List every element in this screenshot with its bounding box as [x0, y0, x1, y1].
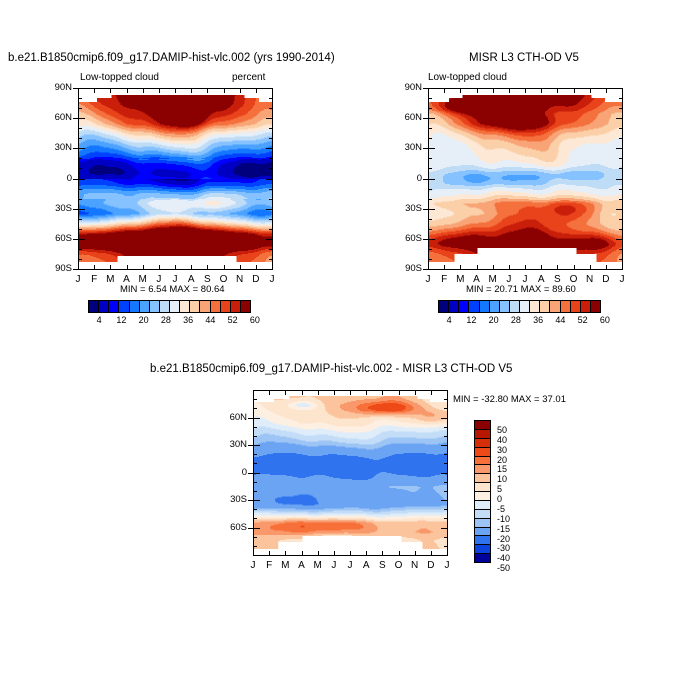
panel-model-ytick-major: [73, 239, 78, 240]
panel-diff-xtick: [431, 551, 432, 556]
panel-model-ytick-major: [73, 269, 78, 270]
panel-obs-xtick: [557, 88, 558, 93]
panel-obs-ytick: [428, 108, 432, 109]
colorbar-tick-label: 36: [533, 315, 543, 325]
panel-model-ytick: [78, 148, 85, 149]
panel-model-xtick: [224, 88, 225, 93]
colorbar-tick-label: -50: [497, 563, 510, 573]
panel-model-ylabel: 90S: [44, 263, 72, 274]
colorbar-tick-label: 60: [250, 315, 260, 325]
panel-model-ytick: [78, 118, 85, 119]
panel-model-ytick: [78, 249, 82, 250]
panel-obs-ytick: [619, 189, 623, 190]
panel-obs-ytick-major: [423, 179, 428, 180]
panel-obs-ytick: [619, 168, 623, 169]
panel-obs-xtick: [493, 88, 494, 93]
panel-obs-xtick: [541, 265, 542, 270]
panel-obs-xtick: [574, 88, 575, 93]
panel-model-right-label: percent: [232, 72, 265, 83]
panel-diff-ytick-major: [248, 418, 253, 419]
panel-model-xtick: [256, 88, 257, 93]
panel-model-colorbar-labels: 412202836445260: [88, 315, 266, 327]
panel-obs-title: MISR L3 CTH-OD V5: [404, 52, 644, 64]
panel-obs-ytick: [428, 168, 432, 169]
panel-model-ytick: [269, 108, 273, 109]
panel-model-ytick: [269, 199, 273, 200]
panel-obs-xtick: [477, 88, 478, 93]
panel-model-ytick: [78, 199, 82, 200]
panel-model-ytick-major: [73, 179, 78, 180]
panel-obs-ytick: [616, 118, 623, 119]
panel-diff-ytick: [253, 399, 257, 400]
panel-obs-xtick: [493, 265, 494, 270]
panel-diff-ytick-major: [248, 528, 253, 529]
colorbar-tick-label: 4: [97, 315, 102, 325]
panel-model-ylabel: 60S: [44, 233, 72, 244]
panel-model-ytick: [78, 209, 85, 210]
panel-obs-ytick: [619, 158, 623, 159]
colorbar-tick-label: 10: [497, 474, 507, 484]
panel-diff-ylabel: 30S: [219, 494, 247, 505]
colorbar-tick-label: 44: [555, 315, 565, 325]
colorbar-tick-label: 40: [497, 435, 507, 445]
colorbar-tick-label: 12: [116, 315, 126, 325]
panel-diff-ylabel: 60S: [219, 522, 247, 533]
colorbar-tick-label: -20: [497, 534, 510, 544]
colorbar-tick-label: 20: [497, 455, 507, 465]
panel-model-ylabel: 30S: [44, 203, 72, 214]
panel-diff-ytick: [253, 418, 260, 419]
panel-diff-xtick: [302, 551, 303, 556]
panel-obs-ylabel: 0: [394, 173, 422, 184]
panel-obs-ytick: [616, 148, 623, 149]
panel-obs-ytick: [428, 189, 432, 190]
panel-obs-ytick: [619, 229, 623, 230]
panel-obs-ylabel: 30N: [394, 142, 422, 153]
panel-obs-xtick: [477, 265, 478, 270]
colorbar-swatch: [590, 300, 601, 313]
panel-model-xtick: [110, 265, 111, 270]
panel-model-ytick-major: [73, 88, 78, 89]
colorbar-tick-label: -10: [497, 514, 510, 524]
panel-diff-ytick: [253, 408, 257, 409]
panel-diff-ytick: [253, 454, 257, 455]
colorbar-tick-label: 12: [466, 315, 476, 325]
panel-obs-ylabel: 60S: [394, 233, 422, 244]
panel-model-xtick: [94, 265, 95, 270]
panel-diff-xtick: [318, 390, 319, 395]
colorbar-tick-label: -30: [497, 543, 510, 553]
panel-obs-ytick: [428, 88, 435, 89]
panel-obs-ytick-major: [423, 269, 428, 270]
panel-obs-xtick: [444, 88, 445, 93]
panel-diff-ytick: [253, 482, 257, 483]
panel-diff-ytick-major: [248, 500, 253, 501]
panel-model-ytick: [78, 98, 82, 99]
colorbar-tick-label: 36: [183, 315, 193, 325]
panel-model-ytick: [78, 229, 82, 230]
panel-obs-ytick: [428, 179, 435, 180]
panel-diff-ytick: [441, 418, 448, 419]
panel-diff-ytick: [441, 445, 448, 446]
panel-diff-ytick: [444, 408, 448, 409]
panel-model-ytick: [269, 138, 273, 139]
panel-diff-xtick: [334, 551, 335, 556]
panel-model-xtick: [94, 88, 95, 93]
colorbar-tick-label: -15: [497, 524, 510, 534]
panel-obs-colorbar-labels: 412202836445260: [438, 315, 616, 327]
panel-diff-ytick: [444, 436, 448, 437]
panel-model-ytick: [78, 189, 82, 190]
panel-diff-ytick: [253, 555, 257, 556]
panel-diff-heatmap: [254, 391, 447, 555]
panel-obs-ytick: [428, 239, 435, 240]
colorbar-swatch: [474, 553, 491, 563]
panel-model-ytick: [269, 128, 273, 129]
panel-model-ytick-major: [73, 118, 78, 119]
colorbar-tick-label: -5: [497, 504, 505, 514]
panel-diff-xtick: [318, 551, 319, 556]
panel-obs-ytick: [616, 239, 623, 240]
panel-model-ytick: [266, 88, 273, 89]
panel-diff-ytick: [253, 473, 260, 474]
panel-diff-xtick: [366, 551, 367, 556]
colorbar-tick-label: 52: [228, 315, 238, 325]
panel-model-ytick: [78, 138, 82, 139]
panel-diff-title: b.e21.B1850cmip6.f09_g17.DAMIP-hist-vlc.…: [150, 363, 512, 375]
panel-model-xlabel: J: [262, 274, 282, 285]
panel-model-xtick: [191, 88, 192, 93]
panel-model-colorbar[interactable]: [88, 300, 266, 313]
panel-diff-colorbar[interactable]: [474, 420, 491, 578]
panel-diff-ytick: [444, 390, 448, 391]
panel-model-ytick: [269, 229, 273, 230]
panel-obs-ytick: [428, 229, 432, 230]
panel-diff-xtick: [415, 551, 416, 556]
colorbar-tick-label: 5: [497, 484, 502, 494]
panel-model-xtick: [207, 265, 208, 270]
panel-diff-xtick: [382, 551, 383, 556]
panel-diff-ytick: [253, 528, 260, 529]
panel-obs-xtick: [460, 265, 461, 270]
panel-diff-ytick: [253, 427, 257, 428]
panel-obs-ytick: [616, 269, 623, 270]
panel-model-ytick: [266, 179, 273, 180]
panel-diff-ytick-major: [248, 445, 253, 446]
panel-model-xtick: [127, 265, 128, 270]
panel-model-ytick: [78, 239, 85, 240]
panel-obs-xlabel: J: [612, 274, 632, 285]
panel-obs-ytick: [616, 209, 623, 210]
colorbar-tick-label: 20: [489, 315, 499, 325]
colorbar-tick-label: 30: [497, 445, 507, 455]
panel-obs-ytick: [428, 219, 432, 220]
panel-diff-ytick: [444, 537, 448, 538]
panel-model-ytick: [269, 249, 273, 250]
panel-model-ytick: [266, 269, 273, 270]
panel-obs-ytick: [619, 199, 623, 200]
panel-model-xtick: [159, 265, 160, 270]
panel-model-ylabel: 60N: [44, 112, 72, 123]
panel-diff-ytick: [253, 500, 260, 501]
panel-model-xtick: [240, 265, 241, 270]
panel-model-ytick: [78, 158, 82, 159]
panel-diff-xtick: [285, 390, 286, 395]
colorbar-tick-label: 15: [497, 464, 507, 474]
panel-obs-ytick: [616, 88, 623, 89]
panel-obs-ytick: [428, 259, 432, 260]
panel-obs-ylabel: 30S: [394, 203, 422, 214]
panel-obs-ytick: [428, 98, 432, 99]
panel-model-xtick: [224, 265, 225, 270]
panel-obs-ytick: [428, 199, 432, 200]
panel-obs-ytick: [428, 148, 435, 149]
panel-model-ytick: [269, 259, 273, 260]
panel-model-xtick: [191, 265, 192, 270]
panel-model-xtick: [240, 88, 241, 93]
panel-diff-ytick: [253, 509, 257, 510]
panel-diff-ytick: [444, 427, 448, 428]
panel-model-ytick-major: [73, 148, 78, 149]
panel-model-xtick: [175, 88, 176, 93]
panel-model-xtick: [143, 265, 144, 270]
panel-diff-minmax: MIN = -32.80 MAX = 37.01: [453, 394, 566, 405]
panel-model-ylabel: 30N: [44, 142, 72, 153]
panel-obs-xtick: [460, 88, 461, 93]
panel-diff-ytick: [444, 482, 448, 483]
panel-diff-ylabel: 60N: [219, 412, 247, 423]
panel-diff-ytick: [441, 500, 448, 501]
panel-obs-ytick-major: [423, 239, 428, 240]
panel-obs-ytick-major: [423, 209, 428, 210]
panel-model-ytick: [78, 219, 82, 220]
panel-model-ytick: [78, 168, 82, 169]
panel-model-minmax: MIN = 6.54 MAX = 80.64: [120, 284, 225, 295]
panel-obs-ytick: [619, 128, 623, 129]
panel-diff-ylabel: 0: [219, 467, 247, 478]
panel-obs-heatmap: [429, 89, 622, 269]
panel-model-ytick: [269, 98, 273, 99]
panel-diff-ytick: [444, 509, 448, 510]
panel-diff-ytick: [253, 537, 257, 538]
panel-diff-ytick: [253, 445, 260, 446]
panel-diff-xtick: [269, 390, 270, 395]
panel-diff-ytick: [444, 491, 448, 492]
panel-diff-xtick: [269, 551, 270, 556]
panel-diff-xtick: [302, 390, 303, 395]
colorbar-tick-label: 20: [139, 315, 149, 325]
panel-obs-ytick: [428, 128, 432, 129]
panel-diff-xtick: [399, 390, 400, 395]
panel-model-ytick: [78, 108, 82, 109]
panel-diff-xtick: [334, 390, 335, 395]
panel-obs-ytick: [619, 259, 623, 260]
panel-model-ytick: [269, 189, 273, 190]
panel-obs-xtick: [509, 88, 510, 93]
panel-obs-ytick: [428, 249, 432, 250]
panel-obs-xtick: [444, 265, 445, 270]
panel-model-heatmap: [79, 89, 272, 269]
panel-model-ytick: [269, 158, 273, 159]
panel-model-ytick: [78, 88, 85, 89]
panel-model-ytick: [266, 148, 273, 149]
panel-diff-xtick: [382, 390, 383, 395]
panel-model-xtick: [127, 88, 128, 93]
panel-obs-xtick: [541, 88, 542, 93]
panel-obs-ytick-major: [423, 148, 428, 149]
panel-model-ytick: [78, 269, 85, 270]
colorbar-tick-label: 44: [205, 315, 215, 325]
panel-diff-ytick: [253, 463, 257, 464]
panel-obs-ytick: [428, 118, 435, 119]
panel-model-xtick: [175, 265, 176, 270]
panel-obs-plot[interactable]: [428, 88, 623, 270]
panel-diff-xtick: [366, 390, 367, 395]
panel-model-plot[interactable]: [78, 88, 273, 270]
panel-obs-ylabel: 60N: [394, 112, 422, 123]
panel-diff-ytick: [253, 390, 257, 391]
panel-model-xtick: [110, 88, 111, 93]
panel-diff-xtick: [415, 390, 416, 395]
panel-obs-xtick: [557, 265, 558, 270]
panel-obs-ytick: [428, 269, 435, 270]
panel-obs-ylabel: 90N: [394, 82, 422, 93]
panel-obs-ytick: [619, 138, 623, 139]
panel-diff-plot[interactable]: [253, 390, 448, 556]
panel-diff-ytick: [441, 473, 448, 474]
panel-model-xtick: [207, 88, 208, 93]
panel-obs-xtick: [525, 265, 526, 270]
panel-obs-ytick: [428, 158, 432, 159]
panel-model-ytick: [266, 118, 273, 119]
panel-diff-ytick: [444, 518, 448, 519]
panel-diff-ytick: [444, 555, 448, 556]
panel-diff-ylabel: 30N: [219, 439, 247, 450]
panel-obs-colorbar[interactable]: [438, 300, 616, 313]
panel-model-xtick: [143, 88, 144, 93]
panel-obs-ytick-major: [423, 88, 428, 89]
colorbar-tick-label: 52: [578, 315, 588, 325]
colorbar-tick-label: 4: [447, 315, 452, 325]
panel-diff-colorbar-labels: 50403020151050-5-10-15-20-30-40-50: [495, 420, 525, 578]
panel-model-ytick: [78, 128, 82, 129]
panel-diff-xtick: [350, 551, 351, 556]
panel-model-title: b.e21.B1850cmip6.f09_g17.DAMIP-hist-vlc.…: [8, 52, 335, 64]
colorbar-tick-label: 60: [600, 315, 610, 325]
panel-diff-ytick: [253, 436, 257, 437]
panel-model-ylabel: 90N: [44, 82, 72, 93]
panel-diff-ytick: [253, 518, 257, 519]
panel-model-ytick: [266, 239, 273, 240]
panel-diff-ytick-major: [248, 473, 253, 474]
panel-obs-xtick: [606, 88, 607, 93]
colorbar-tick-label: 50: [497, 425, 507, 435]
panel-model-ytick: [78, 259, 82, 260]
panel-obs-xtick: [574, 265, 575, 270]
panel-obs-ytick: [619, 98, 623, 99]
panel-diff-xtick: [431, 390, 432, 395]
panel-diff-xtick: [285, 551, 286, 556]
panel-diff-xtick: [350, 390, 351, 395]
panel-obs-ylabel: 90S: [394, 263, 422, 274]
panel-diff-ytick: [444, 546, 448, 547]
panel-diff-ytick: [444, 463, 448, 464]
panel-diff-ytick: [253, 491, 257, 492]
panel-model-ytick: [269, 168, 273, 169]
colorbar-swatch: [240, 300, 251, 313]
panel-obs-xtick: [525, 88, 526, 93]
panel-diff-ytick: [253, 546, 257, 547]
panel-diff-xtick: [399, 551, 400, 556]
panel-obs-ytick: [616, 179, 623, 180]
panel-model-ytick: [78, 179, 85, 180]
panel-obs-ytick: [619, 249, 623, 250]
panel-obs-xtick: [509, 265, 510, 270]
panel-model-ylabel: 0: [44, 173, 72, 184]
panel-model-ytick: [269, 219, 273, 220]
panel-obs-ytick: [428, 138, 432, 139]
colorbar-tick-label: 28: [511, 315, 521, 325]
panel-obs-ytick: [619, 219, 623, 220]
panel-obs-ytick-major: [423, 118, 428, 119]
panel-model-left-label: Low-topped cloud: [80, 72, 159, 83]
panel-model-ytick-major: [73, 209, 78, 210]
panel-diff-xlabel: J: [437, 560, 457, 571]
panel-obs-ytick: [428, 209, 435, 210]
panel-diff-ytick: [444, 399, 448, 400]
panel-diff-ytick: [441, 528, 448, 529]
colorbar-tick-label: 28: [161, 315, 171, 325]
panel-obs-minmax: MIN = 20.71 MAX = 89.60: [466, 284, 576, 295]
panel-model-xtick: [159, 88, 160, 93]
colorbar-tick-label: -40: [497, 553, 510, 563]
panel-obs-xtick: [590, 88, 591, 93]
panel-obs-ytick: [619, 108, 623, 109]
panel-obs-xtick: [606, 265, 607, 270]
figure-canvas: b.e21.B1850cmip6.f09_g17.DAMIP-hist-vlc.…: [0, 0, 700, 700]
colorbar-tick-label: 0: [497, 494, 502, 504]
panel-obs-xtick: [590, 265, 591, 270]
panel-model-xtick: [256, 265, 257, 270]
panel-obs-left-label: Low-topped cloud: [428, 72, 507, 83]
panel-model-ytick: [266, 209, 273, 210]
panel-diff-ytick: [444, 454, 448, 455]
